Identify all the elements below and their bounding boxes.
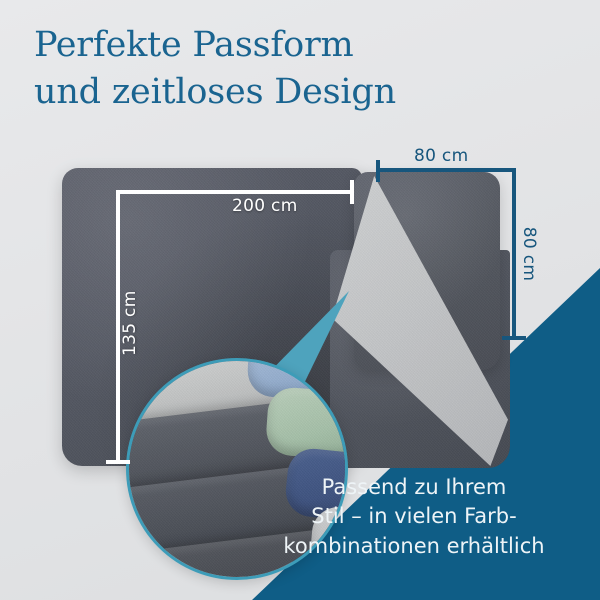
label-pillow-width: 80 cm <box>414 146 468 166</box>
page-title-line-1: Perfekte Passform <box>34 22 554 69</box>
label-duvet-width: 200 cm <box>232 196 298 216</box>
label-duvet-height: 135 cm <box>120 296 140 356</box>
page-title: Perfekte Passform und zeitloses Design <box>34 22 554 115</box>
product-infographic: 200 cm 135 cm 80 cm 80 cm Perfekte Passf… <box>0 0 600 600</box>
caption-text: Passend zu Ihrem Stil – in vielen Farb- … <box>254 473 574 562</box>
page-title-line-2: und zeitloses Design <box>34 69 554 116</box>
label-pillow-height: 80 cm <box>519 226 539 282</box>
caption-line-3: kombinationen erhältlich <box>254 532 574 562</box>
caption-line-1: Passend zu Ihrem <box>254 473 574 503</box>
pillow-dimension-lines <box>378 160 526 338</box>
caption-line-2: Stil – in vielen Farb- <box>254 502 574 532</box>
duvet-dimension-lines <box>106 180 352 462</box>
